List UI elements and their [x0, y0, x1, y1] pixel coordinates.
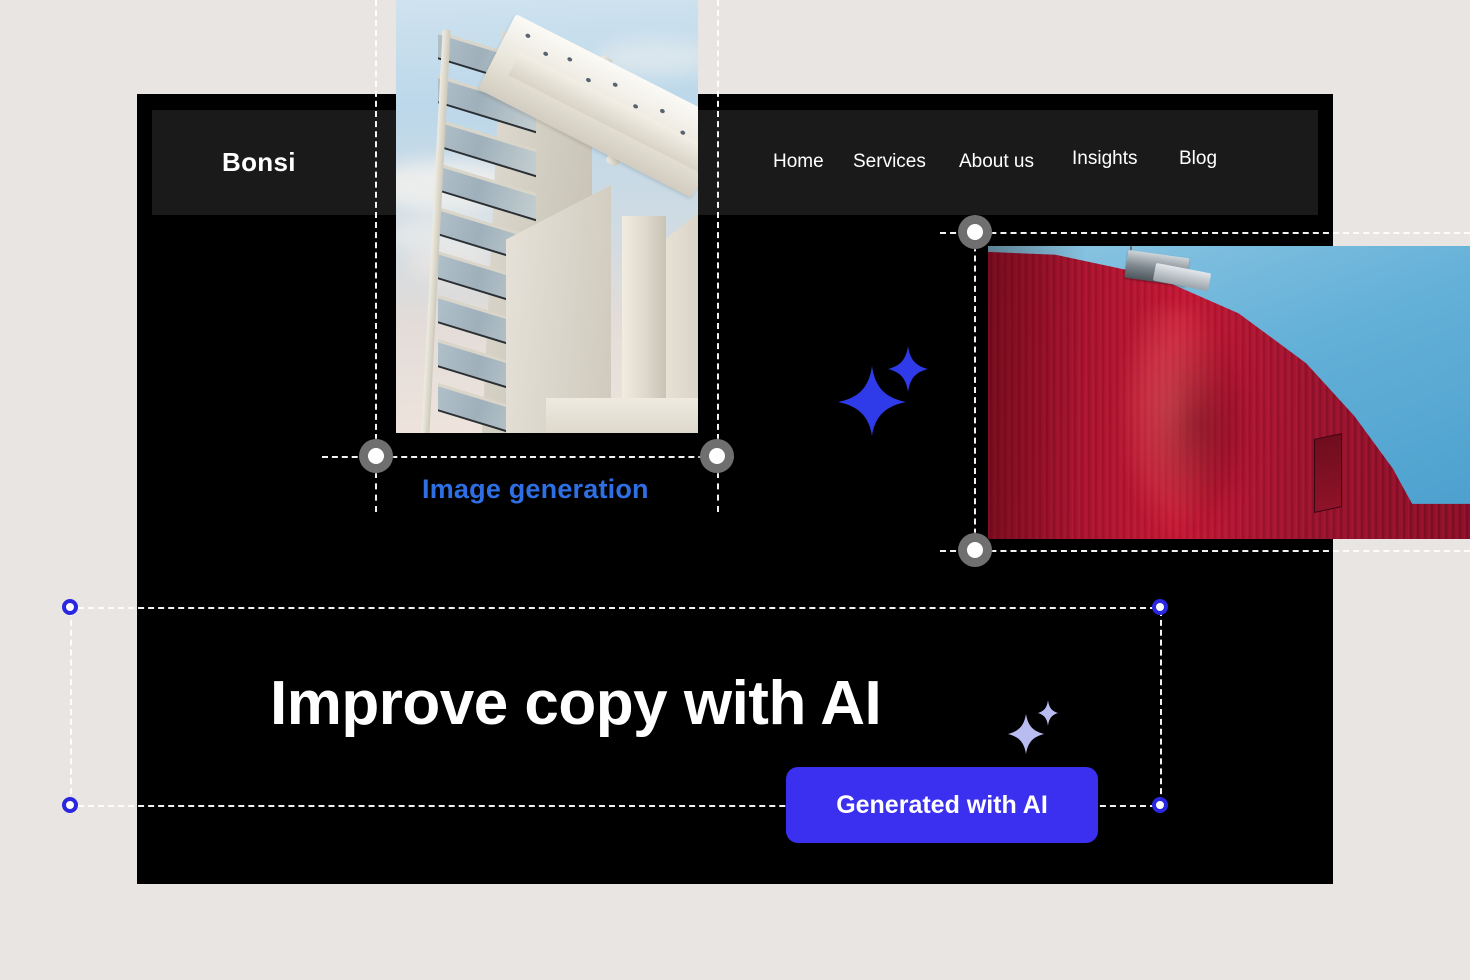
window-opening	[1314, 433, 1342, 513]
guide-vertical-spacing-right	[1160, 610, 1162, 804]
guide-vertical-barn	[974, 215, 976, 565]
guide-vertical-left	[375, 0, 377, 440]
resize-handle-top-middle[interactable]	[958, 215, 992, 249]
guide-horizontal-spacing-top	[78, 607, 1166, 609]
resize-handle-bottom-right[interactable]	[700, 439, 734, 473]
resize-handle-bottom-left[interactable]	[359, 439, 393, 473]
guide-vertical-right-tail	[717, 472, 719, 512]
nav-item-home[interactable]: Home	[773, 151, 824, 173]
hero-headline: Improve copy with AI	[270, 668, 881, 740]
sparkle-icon	[836, 338, 928, 438]
spacing-handle-top-right[interactable]	[1152, 599, 1168, 615]
spacing-handle-bottom-left[interactable]	[62, 797, 78, 813]
nav-item-services[interactable]: Services	[853, 151, 926, 173]
guide-vertical-right	[717, 0, 719, 440]
guide-vertical-spacing-left	[70, 610, 72, 804]
editor-stage: Bonsi Home Services About us Insights Bl…	[0, 0, 1470, 980]
nav-item-insights[interactable]: Insights	[1072, 148, 1137, 170]
red-barn-photo[interactable]	[988, 246, 1470, 539]
nav-item-about-us[interactable]: About us	[959, 151, 1034, 173]
nav-links: Home Services About us Insights Blog	[770, 110, 1240, 215]
edge-shading	[988, 246, 1470, 539]
guide-horizontal-barn-bottom	[940, 550, 1470, 552]
base-slab	[546, 398, 698, 433]
spacing-handle-top-left[interactable]	[62, 599, 78, 615]
resize-handle-bottom-middle[interactable]	[958, 533, 992, 567]
brand-logo[interactable]: Bonsi	[222, 146, 296, 178]
sparkle-icon	[1008, 700, 1060, 754]
guide-horizontal-barn-top	[940, 232, 1470, 234]
generated-with-ai-button[interactable]: Generated with AI	[786, 767, 1098, 843]
image-generation-label: Image generation	[422, 474, 649, 505]
spacing-handle-bottom-right[interactable]	[1152, 797, 1168, 813]
nav-item-blog[interactable]: Blog	[1179, 148, 1217, 170]
building-photo[interactable]	[396, 0, 698, 433]
guide-vertical-left-tail	[375, 472, 377, 512]
